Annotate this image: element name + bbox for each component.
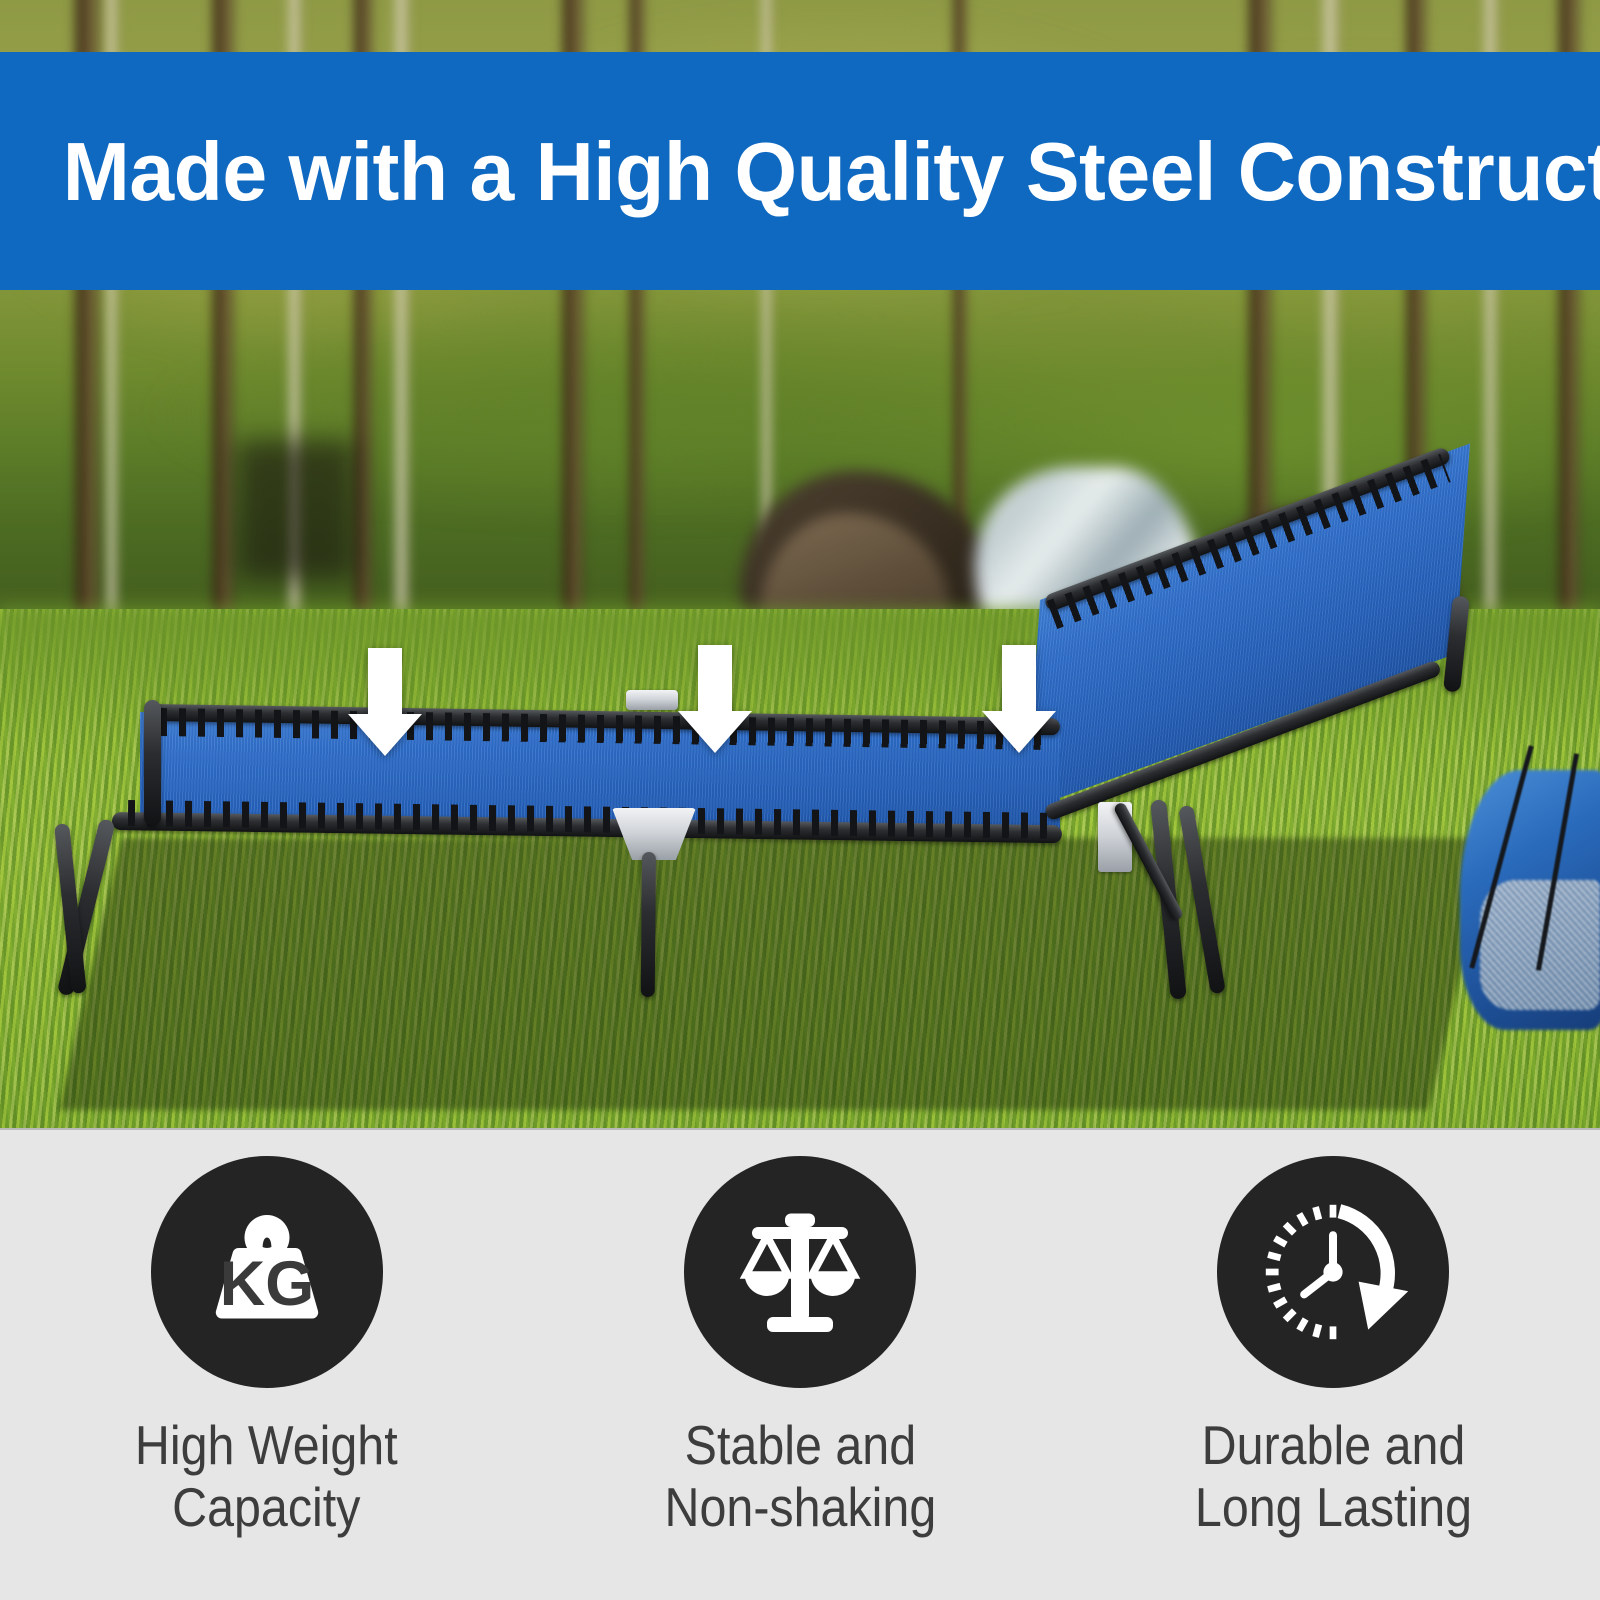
marketing-infographic: Made with a High Quality Steel Construct… <box>0 0 1600 1600</box>
balance-scale-icon <box>725 1197 875 1347</box>
feature-durable-long-lasting: Durable and Long Lasting <box>1067 1130 1600 1600</box>
down-arrow-right <box>982 645 1056 753</box>
headline-banner: Made with a High Quality Steel Construct… <box>0 52 1600 290</box>
feature-icon-circle: KG <box>151 1156 383 1388</box>
kg-weight-icon: KG <box>192 1197 342 1347</box>
centre-support-leg <box>641 852 656 997</box>
feature-caption-line1: High Weight <box>135 1414 398 1476</box>
feature-caption-line1: Durable and <box>1195 1414 1472 1476</box>
rear-leg-back <box>1178 805 1226 995</box>
feature-caption-line2: Non-shaking <box>664 1476 936 1538</box>
kg-icon-label: KG <box>219 1249 314 1319</box>
foot-end-cap <box>144 700 161 826</box>
feature-stable-non-shaking: Stable and Non-shaking <box>533 1130 1066 1600</box>
feature-caption: Stable and Non-shaking <box>664 1414 936 1538</box>
feature-icon-circle <box>1217 1156 1449 1388</box>
page-title: Made with a High Quality Steel Construct… <box>24 130 1576 213</box>
seat-rail-bracket <box>626 690 678 710</box>
feature-strip: KG High Weight Capacity <box>0 1128 1600 1600</box>
feature-caption-line1: Stable and <box>664 1414 936 1476</box>
feature-caption-line2: Capacity <box>135 1476 398 1538</box>
centre-leg-bracket <box>612 808 696 860</box>
feature-high-weight-capacity: KG High Weight Capacity <box>0 1130 533 1600</box>
feature-icon-circle <box>684 1156 916 1388</box>
feature-caption: Durable and Long Lasting <box>1195 1414 1472 1538</box>
clock-arrow-icon <box>1253 1192 1413 1352</box>
down-arrow-left <box>348 648 422 756</box>
feature-caption: High Weight Capacity <box>135 1414 398 1538</box>
feature-caption-line2: Long Lasting <box>1195 1476 1472 1538</box>
down-arrow-center <box>678 645 752 753</box>
